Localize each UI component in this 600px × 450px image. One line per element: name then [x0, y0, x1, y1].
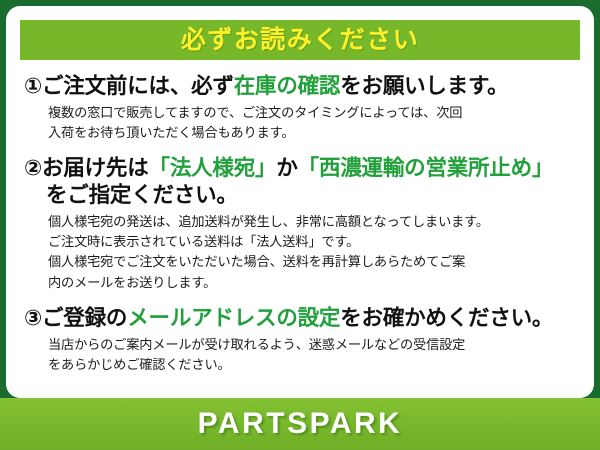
notice-panel: 必ずお読みください ①ご注文前には、必ず在庫の確認をお願いします。 複数の窓口で…: [6, 6, 594, 398]
section-3: ③ご登録のメールアドレスの設定をお確かめください。 当店からのご案内メールが受け…: [24, 305, 576, 375]
section-3-heading-part-1: ご登録の: [42, 306, 127, 330]
section-1-body: 複数の窓口で販売してますので、ご注文のタイミングによっては、次回 入荷をお待ち頂…: [24, 103, 576, 143]
section-1-heading-highlight: 在庫の確認: [234, 74, 341, 98]
section-2: ②お届け先は「法人様宛」か「西濃運輸の営業所止め」 をご指定ください。 個人様宅…: [24, 155, 576, 292]
section-2-marker: ②: [24, 156, 42, 180]
section-1-marker: ①: [24, 74, 42, 98]
section-2-heading-part-3: か: [276, 156, 297, 180]
section-2-body-line-3: 個人様宅宛でご注文をいただいた場合、送料を再計算しあらためてご案: [48, 252, 576, 272]
section-3-body: 当店からのご案内メールが受け取れるよう、迷惑メールなどの受信設定 をあらかじめご…: [24, 335, 576, 375]
section-2-heading-part-1: お届け先は: [42, 156, 149, 180]
section-3-heading-part-3: をお確かめください。: [340, 306, 553, 330]
section-1: ①ご注文前には、必ず在庫の確認をお願いします。 複数の窓口で販売してますので、ご…: [24, 73, 576, 143]
notice-frame: 必ずお読みください ①ご注文前には、必ず在庫の確認をお願いします。 複数の窓口で…: [0, 0, 600, 450]
section-2-body: 個人様宅宛の発送は、追加送料が発生し、非常に高額となってしまいます。 ご注文時に…: [24, 212, 576, 292]
section-2-heading-highlight-2: 「西濃運輸の営業所止め」: [298, 156, 554, 180]
footer-logo-bar: PARTSPARK: [0, 398, 600, 450]
section-1-heading-part-3: をお願いします。: [340, 74, 508, 98]
banner-title: 必ずお読みください: [181, 28, 420, 53]
sections-container: ①ご注文前には、必ず在庫の確認をお願いします。 複数の窓口で販売してますので、ご…: [20, 73, 580, 375]
section-2-heading: ②お届け先は「法人様宛」か「西濃運輸の営業所止め」 をご指定ください。: [24, 155, 576, 209]
section-2-body-line-1: 個人様宅宛の発送は、追加送料が発生し、非常に高額となってしまいます。: [48, 212, 576, 232]
section-2-body-line-4: 内のメールをお送りします。: [48, 273, 576, 293]
header-banner: 必ずお読みください: [20, 20, 580, 60]
section-3-body-line-2: をあらかじめご確認ください。: [48, 355, 576, 375]
section-3-heading-highlight: メールアドレスの設定: [127, 306, 340, 330]
section-2-heading-line-2: をご指定ください。: [24, 182, 576, 209]
section-1-heading-part-1: ご注文前には、必ず: [42, 74, 234, 98]
section-3-heading: ③ご登録のメールアドレスの設定をお確かめください。: [24, 305, 576, 332]
section-1-body-line-1: 複数の窓口で販売してますので、ご注文のタイミングによっては、次回: [48, 103, 576, 123]
partspark-logo: PARTSPARK: [198, 409, 403, 439]
section-1-body-line-2: 入荷をお待ち頂いただく場合もあります。: [48, 123, 576, 143]
section-2-body-line-2: ご注文時に表示されている送料は「法人送料」です。: [48, 232, 576, 252]
section-3-body-line-1: 当店からのご案内メールが受け取れるよう、迷惑メールなどの受信設定: [48, 335, 576, 355]
section-3-marker: ③: [24, 306, 42, 330]
section-1-heading: ①ご注文前には、必ず在庫の確認をお願いします。: [24, 73, 576, 100]
section-2-heading-highlight-1: 「法人様宛」: [149, 156, 277, 180]
